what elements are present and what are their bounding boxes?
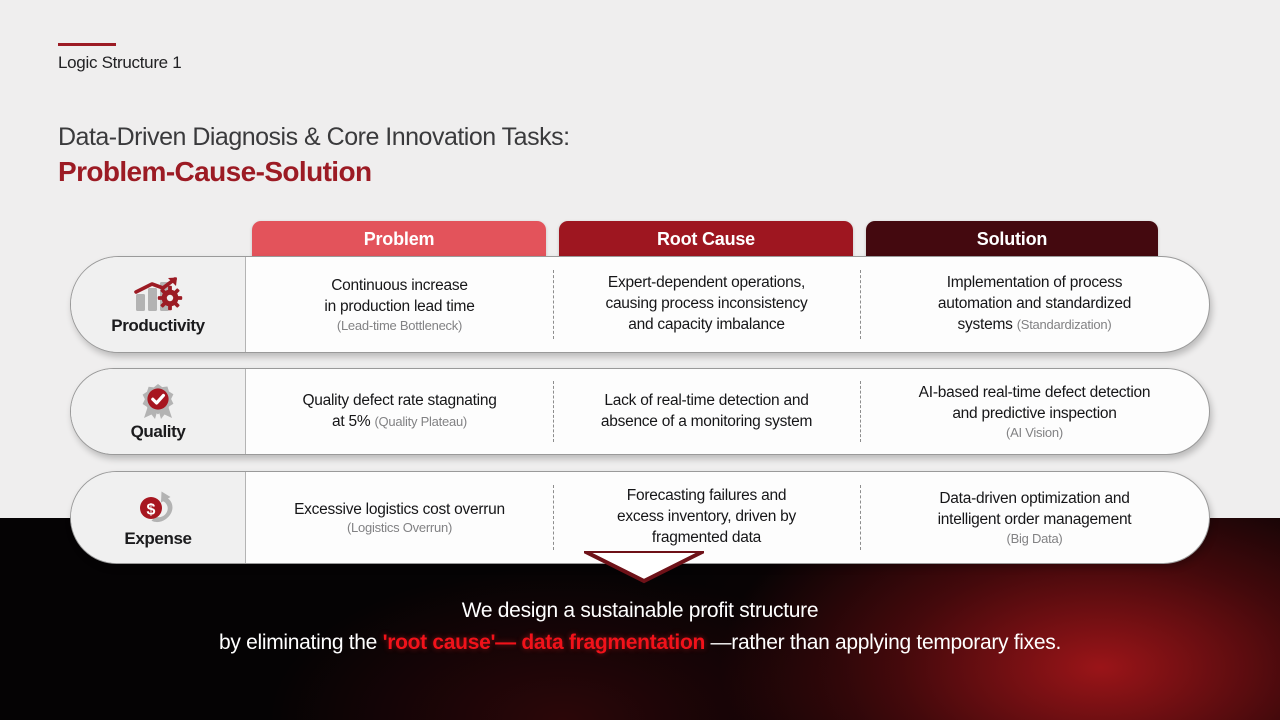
accent-rule <box>58 43 116 46</box>
statement-line-2: by eliminating the 'root cause'— data fr… <box>0 628 1280 658</box>
statement-prefix: by eliminating the <box>219 631 383 654</box>
column-header-root-cause[interactable]: Root Cause <box>559 221 853 257</box>
cell-note-text: (Standardization) <box>1017 317 1112 332</box>
cell-main-text: Lack of real-time detection andabsence o… <box>601 391 812 433</box>
cell-problem: Quality defect rate stagnatingat 5% (Qua… <box>246 369 553 454</box>
category-cell-expense[interactable]: $ Expense <box>71 472 246 563</box>
statement-line-1: We design a sustainable profit structure <box>0 596 1280 626</box>
cell-solution: AI-based real-time defect detectionand p… <box>860 369 1209 454</box>
cell-solution: Data-driven optimization andintelligent … <box>860 472 1209 563</box>
category-cell-quality[interactable]: Quality <box>71 369 246 454</box>
cell-main-text: Expert-dependent operations,causing proc… <box>605 273 807 335</box>
cell-problem: Excessive logistics cost overrun (Logist… <box>246 472 553 563</box>
kicker-label: Logic Structure 1 <box>58 53 181 73</box>
cell-note-text: (AI Vision) <box>1006 425 1063 440</box>
cell-main-text: Quality defect rate stagnatingat 5% (Qua… <box>302 391 496 433</box>
closing-statement: We design a sustainable profit structure… <box>0 596 1280 658</box>
cell-main-text: Forecasting failures andexcess inventory… <box>617 486 796 548</box>
cell-note-text: (Logistics Overrun) <box>347 520 452 535</box>
row-content: Quality defect rate stagnatingat 5% (Qua… <box>246 369 1209 454</box>
cell-main-text: Excessive logistics cost overrun <box>294 500 505 521</box>
cell-main-text: Data-driven optimization andintelligent … <box>938 489 1132 531</box>
cell-main-text: Implementation of processautomation and … <box>938 273 1131 335</box>
cell-main-text: Continuous increasein production lead ti… <box>324 276 474 318</box>
cell-solution: Implementation of processautomation and … <box>860 257 1209 352</box>
cell-root-cause: Lack of real-time detection andabsence o… <box>553 369 860 454</box>
page-title-primary: Data-Driven Diagnosis & Core Innovation … <box>58 123 570 152</box>
category-label: Expense <box>124 529 191 549</box>
cell-note-text: (Quality Plateau) <box>374 414 467 429</box>
bar-chart-gear-icon <box>130 275 186 315</box>
cell-root-cause: Forecasting failures andexcess inventory… <box>553 472 860 563</box>
table-row: Productivity Continuous increasein produ… <box>70 256 1210 353</box>
column-header-solution[interactable]: Solution <box>866 221 1158 257</box>
statement-suffix: —rather than applying temporary fixes. <box>705 631 1061 654</box>
page-title-secondary: Problem-Cause-Solution <box>58 156 372 188</box>
cell-note-text: (Lead-time Bottleneck) <box>337 318 462 333</box>
cell-problem: Continuous increasein production lead ti… <box>246 257 553 352</box>
cell-main-text: AI-based real-time defect detectionand p… <box>919 383 1151 425</box>
dollar-coin-arrow-icon: $ <box>134 488 182 528</box>
row-content: Continuous increasein production lead ti… <box>246 257 1209 352</box>
down-chevron-arrow <box>584 551 704 585</box>
category-label: Quality <box>131 422 186 442</box>
column-header-problem[interactable]: Problem <box>252 221 546 257</box>
cell-root-cause: Expert-dependent operations,causing proc… <box>553 257 860 352</box>
statement-highlight: 'root cause'— data fragmentation <box>383 631 705 654</box>
svg-text:$: $ <box>147 501 156 518</box>
cell-note-text: (Big Data) <box>1006 531 1062 546</box>
table-row: Quality Quality defect rate stagnatingat… <box>70 368 1210 455</box>
category-cell-productivity[interactable]: Productivity <box>71 257 246 352</box>
award-check-icon <box>136 383 180 421</box>
row-content: Excessive logistics cost overrun (Logist… <box>246 472 1209 563</box>
category-label: Productivity <box>111 316 204 336</box>
